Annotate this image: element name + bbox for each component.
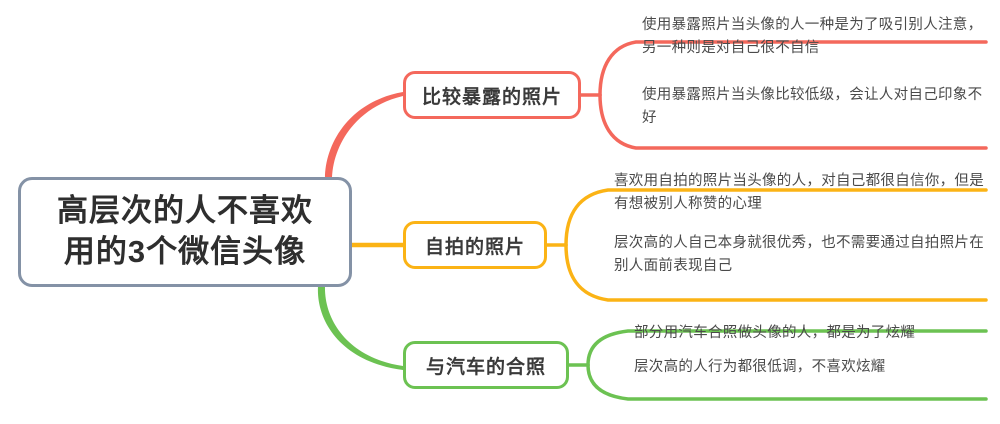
leaf-node[interactable]: 部分用汽车合照做头像的人，都是为了炫耀 <box>628 322 986 345</box>
branch-node-revealing-photos[interactable]: 比较暴露的照片 <box>403 71 581 119</box>
mind-map-canvas: 高层次的人不喜欢 用的3个微信头像 比较暴露的照片 自拍的照片 与汽车的合照 使… <box>0 0 1000 424</box>
root-node-line-1: 高层次的人不喜欢 <box>57 191 313 232</box>
leaf-node[interactable]: 使用暴露照片当头像比较低级，会让人对自己印象不好 <box>636 84 986 131</box>
leaf-node[interactable]: 使用暴露照片当头像的人一种是为了吸引别人注意，另一种则是对自己很不自信 <box>636 14 986 61</box>
root-node[interactable]: 高层次的人不喜欢 用的3个微信头像 <box>18 177 352 287</box>
branch-node-label: 与汽车的合照 <box>426 352 546 379</box>
leaf-node[interactable]: 层次高的人行为都很低调，不喜欢炫耀 <box>628 356 986 379</box>
leaf-node[interactable]: 层次高的人自己本身就很优秀，也不需要通过自拍照片在别人面前表现自己 <box>608 232 986 279</box>
branch-node-label: 比较暴露的照片 <box>422 82 562 109</box>
branch-node-selfie-photos[interactable]: 自拍的照片 <box>403 221 547 269</box>
branch-node-car-photos[interactable]: 与汽车的合照 <box>403 341 569 389</box>
branch-node-label: 自拍的照片 <box>425 232 525 259</box>
root-node-text: 高层次的人不喜欢 用的3个微信头像 <box>57 191 313 273</box>
leaf-node[interactable]: 喜欢用自拍的照片当头像的人，对自己都很自信你，但是有想被别人称赞的心理 <box>608 170 986 217</box>
connector-root-to-branch-2 <box>318 286 403 370</box>
connector-root-to-branch-0 <box>325 92 403 180</box>
root-node-line-2: 用的3个微信头像 <box>57 232 313 273</box>
